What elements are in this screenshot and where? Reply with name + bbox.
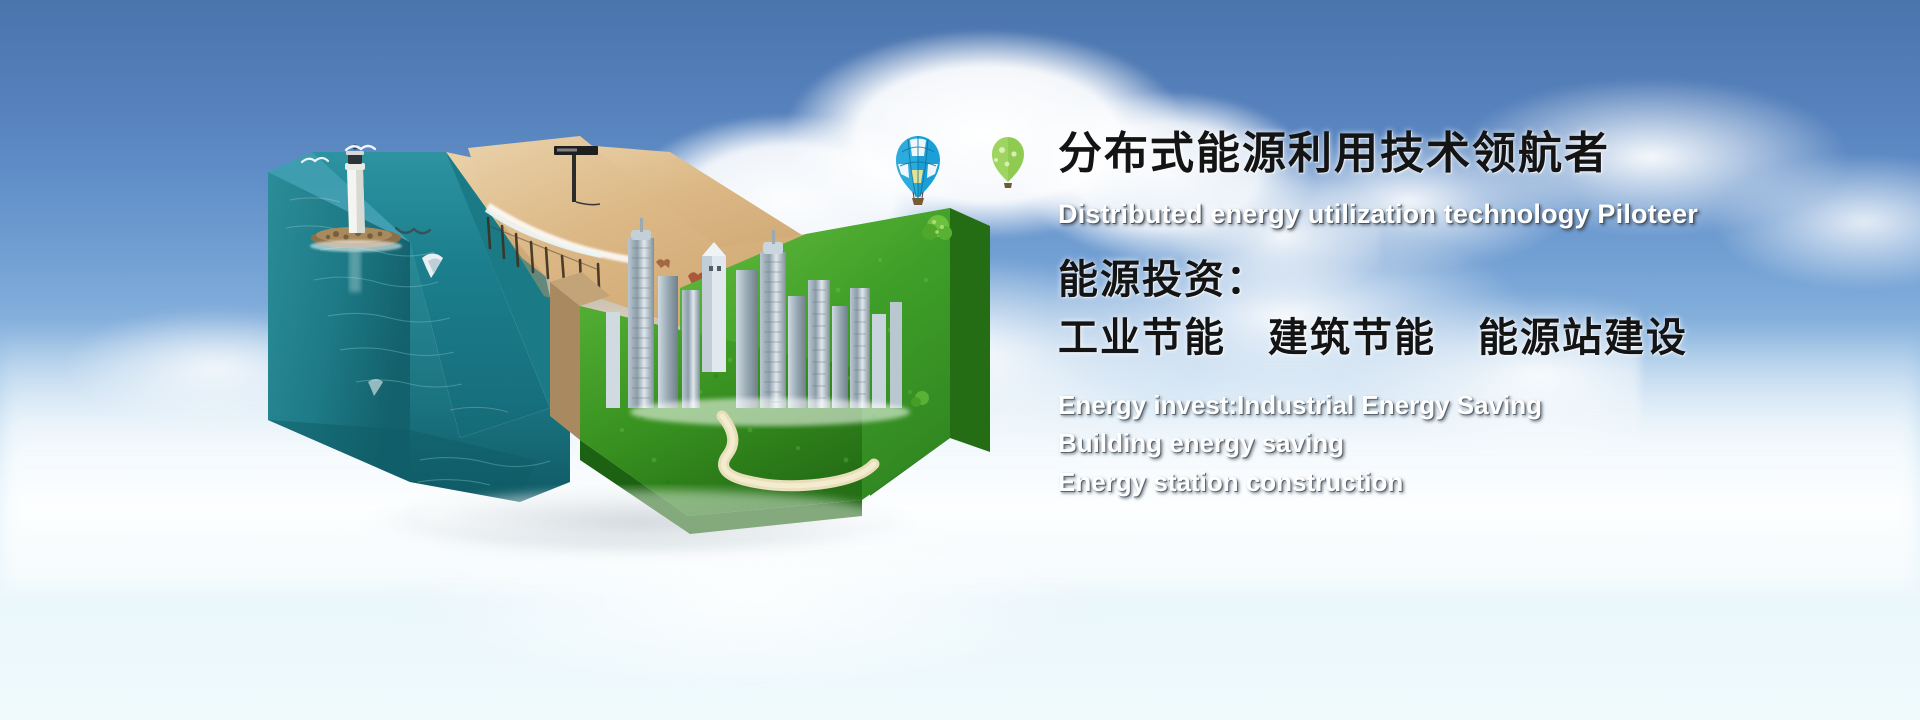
w-landscape-logo bbox=[250, 130, 1050, 550]
en-service-line: Energy station construction bbox=[1058, 463, 1818, 501]
hero-banner: 分布式能源利用技术领航者 Distributed energy utilizat… bbox=[0, 0, 1920, 720]
headline-cn-main: 分布式能源利用技术领航者 bbox=[1058, 130, 1818, 178]
headline-cn-label: 能源投资： bbox=[1058, 258, 1818, 302]
en-service-line: Building energy saving bbox=[1058, 424, 1818, 462]
grass-panel bbox=[580, 208, 990, 534]
hot-air-balloon-blue bbox=[896, 136, 940, 205]
headline-en-sub: Distributed energy utilization technolog… bbox=[1058, 198, 1818, 230]
headline-block: 分布式能源利用技术领航者 Distributed energy utilizat… bbox=[1058, 130, 1818, 501]
headline-cn-services: 工业节能 建筑节能 能源站建设 bbox=[1058, 316, 1818, 360]
hot-air-balloon-green bbox=[992, 137, 1024, 188]
lighthouse-reflection bbox=[349, 250, 361, 292]
seagull bbox=[346, 146, 375, 150]
english-service-list: Energy invest:Industrial Energy Saving B… bbox=[1058, 386, 1818, 501]
en-service-line: Energy invest:Industrial Energy Saving bbox=[1058, 386, 1818, 424]
